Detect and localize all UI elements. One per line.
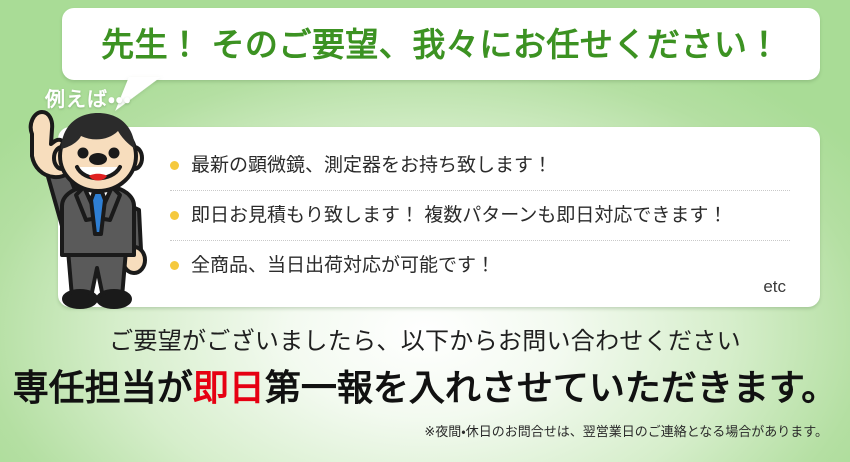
cta-subheading: ご要望がございましたら、以下からお問い合わせください	[0, 330, 850, 354]
bullet-dot-icon	[170, 211, 179, 220]
feature-list-card: 最新の顕微鏡、測定器をお持ち致します！ 即日お見積もり致します！ 複数パターンも…	[58, 127, 820, 307]
list-item-label: 最新の顕微鏡、測定器をお持ち致します！	[191, 156, 552, 175]
pointing-businessman-illustration	[8, 100, 168, 315]
bullet-dot-icon	[170, 161, 179, 170]
etc-label: etc	[763, 278, 786, 295]
list-item: 全商品、当日出荷対応が可能です！	[170, 241, 790, 290]
promo-banner: 先生！ そのご要望、我々にお任せください！ 例えば・・・ 最新の顕微鏡、測定器を…	[0, 0, 850, 462]
speech-bubble: 先生！ そのご要望、我々にお任せください！	[62, 8, 820, 80]
speech-bubble-headline: 先生！ そのご要望、我々にお任せください！	[101, 28, 781, 61]
cta-headline-highlight: 即日	[193, 367, 265, 408]
cta-headline-suffix: 第一報を入れさせていただきます。	[265, 367, 837, 408]
cta-headline: 専任担当が即日第一報を入れさせていただきます。	[0, 370, 850, 406]
list-item-label: 即日お見積もり致します！ 複数パターンも即日対応できます！	[191, 206, 727, 225]
bullet-dot-icon	[170, 261, 179, 270]
cta-headline-prefix: 専任担当が	[13, 367, 193, 408]
list-item: 最新の顕微鏡、測定器をお持ち致します！	[170, 141, 790, 191]
list-item-label: 全商品、当日出荷対応が可能です！	[191, 256, 495, 275]
disclaimer-note: ※夜間・休日のお問合せは、翌営業日のご連絡となる場合があります。	[424, 425, 828, 438]
feature-list: 最新の顕微鏡、測定器をお持ち致します！ 即日お見積もり致します！ 複数パターンも…	[170, 141, 790, 290]
list-item: 即日お見積もり致します！ 複数パターンも即日対応できます！	[170, 191, 790, 241]
